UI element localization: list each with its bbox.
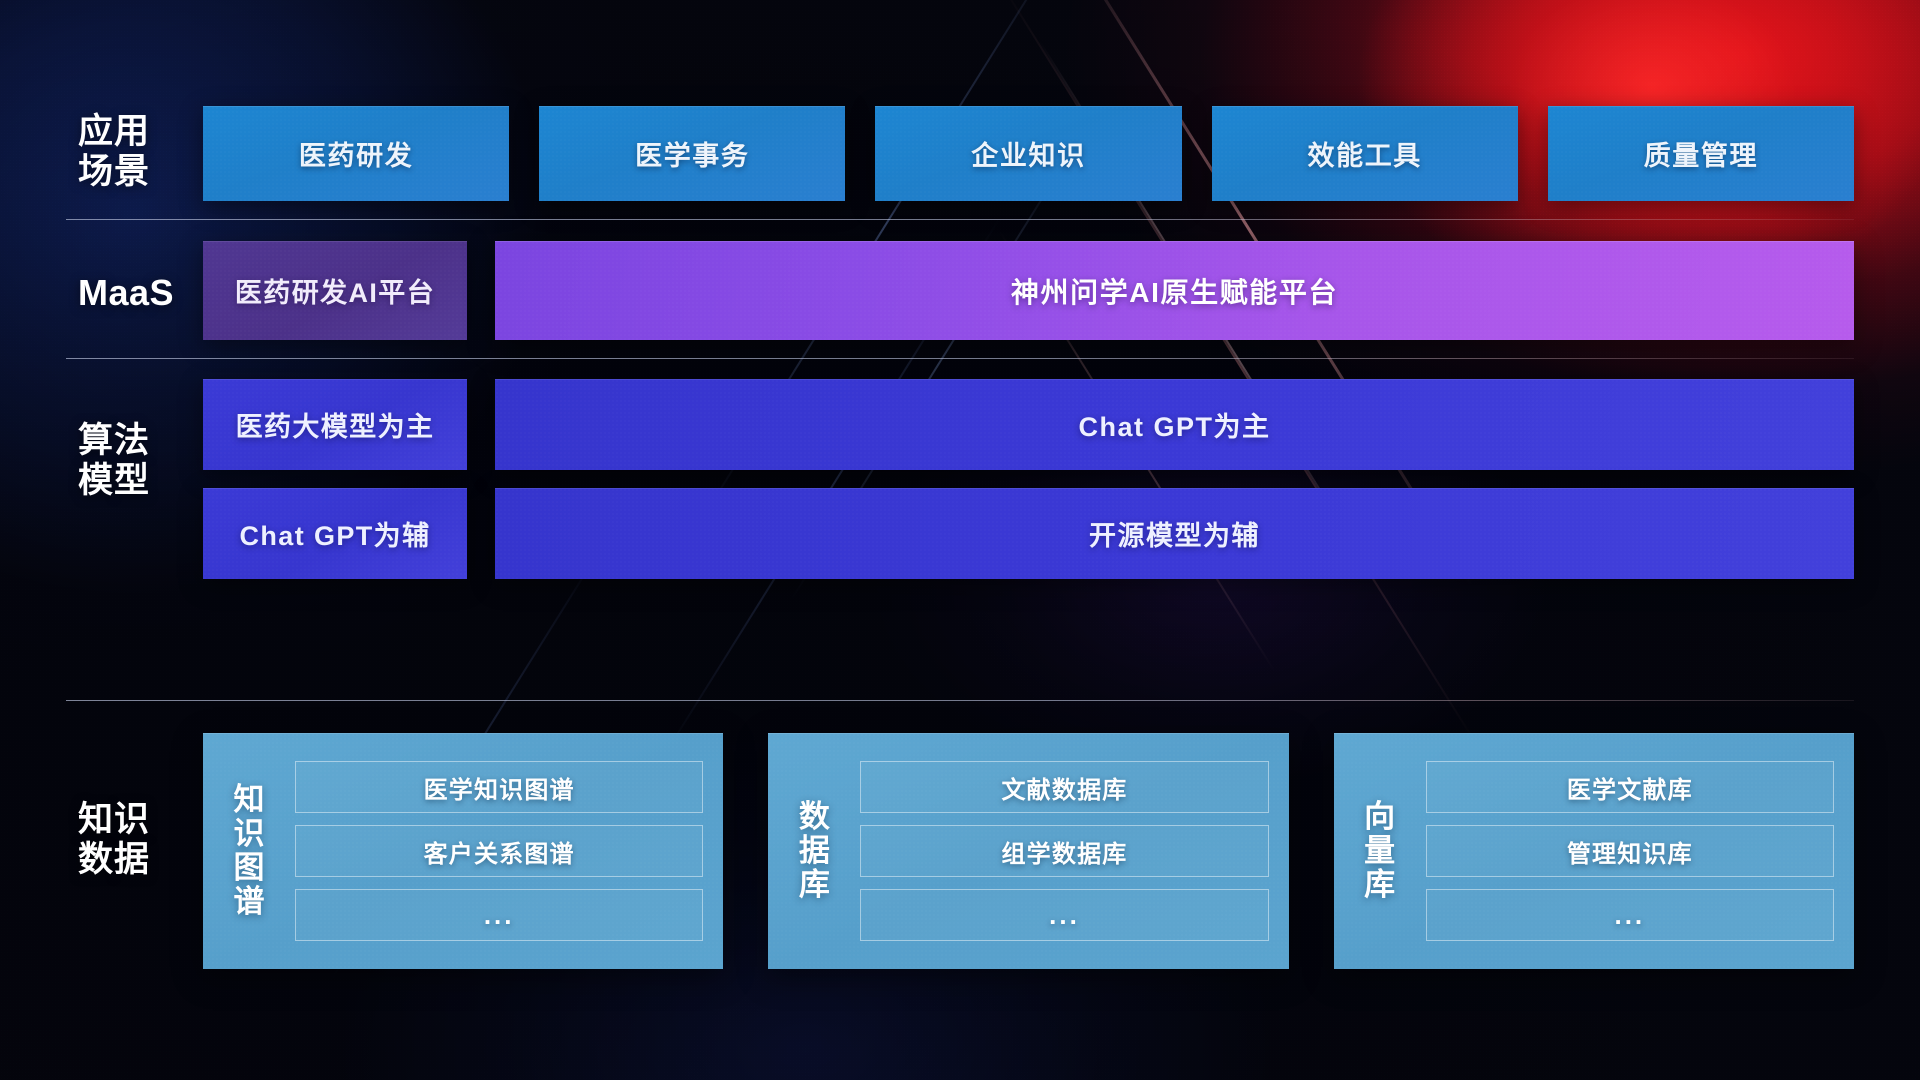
algorithm-secondary-left-label: Chat GPT为辅 — [239, 514, 430, 553]
scenario-box-3[interactable]: 效能工具 — [1212, 106, 1518, 201]
maas-platform-pharma-box[interactable]: 医药研发AI平台 — [203, 241, 467, 340]
knowledge-item-0-2[interactable]: ... — [295, 889, 703, 941]
knowledge-panel-knowledge-graph[interactable]: 知识图谱 医学知识图谱 客户关系图谱 ... — [203, 733, 723, 969]
knowledge-item-list-1: 文献数据库 组学数据库 ... — [860, 761, 1268, 941]
knowledge-panel-vertical-label-0: 知识图谱 — [223, 783, 275, 919]
scenario-box-2[interactable]: 企业知识 — [875, 106, 1181, 201]
divider-3 — [66, 700, 1854, 701]
maas-box-group: 医药研发AI平台 神州问学AI原生赋能平台 — [203, 241, 1854, 340]
algorithm-row-1: Chat GPT为辅 开源模型为辅 — [203, 488, 1854, 579]
knowledge-item-list-2: 医学文献库 管理知识库 ... — [1426, 761, 1834, 941]
maas-platform-shenzhou-label: 神州问学AI原生赋能平台 — [1011, 271, 1338, 311]
divider-1 — [66, 219, 1854, 220]
knowledge-item-1-2[interactable]: ... — [860, 889, 1268, 941]
knowledge-item-2-0[interactable]: 医学文献库 — [1426, 761, 1834, 813]
row-label-line1: 算法 — [78, 421, 208, 461]
scenario-label-1: 医学事务 — [635, 134, 749, 173]
row-label-line1: 应用 — [78, 112, 208, 152]
row-label-maas: MaaS — [78, 272, 208, 313]
knowledge-item-0-1[interactable]: 客户关系图谱 — [295, 825, 703, 877]
algorithm-box-group: 医药大模型为主 Chat GPT为主 Chat GPT为辅 开源模型为辅 — [203, 379, 1854, 579]
algorithm-row-0: 医药大模型为主 Chat GPT为主 — [203, 379, 1854, 470]
knowledge-panel-vertical-label-1: 数据库 — [788, 800, 840, 902]
knowledge-item-1-1[interactable]: 组学数据库 — [860, 825, 1268, 877]
knowledge-item-2-1[interactable]: 管理知识库 — [1426, 825, 1834, 877]
algorithm-secondary-right-box[interactable]: 开源模型为辅 — [495, 488, 1854, 579]
scenario-label-0: 医药研发 — [299, 134, 413, 173]
knowledge-panel-database[interactable]: 数据库 文献数据库 组学数据库 ... — [768, 733, 1288, 969]
row-label-knowledge-data: 知识 数据 — [78, 800, 208, 880]
scenario-box-1[interactable]: 医学事务 — [539, 106, 845, 201]
algorithm-primary-left-label: 医药大模型为主 — [236, 405, 435, 444]
maas-platform-pharma-label: 医药研发AI平台 — [235, 271, 435, 310]
scenario-label-4: 质量管理 — [1644, 134, 1758, 173]
maas-platform-shenzhou-box[interactable]: 神州问学AI原生赋能平台 — [495, 241, 1854, 340]
knowledge-panel-vector-store[interactable]: 向量库 医学文献库 管理知识库 ... — [1334, 733, 1854, 969]
algorithm-primary-right-box[interactable]: Chat GPT为主 — [495, 379, 1854, 470]
row-label-line2: 场景 — [78, 152, 208, 192]
scenario-box-group: 医药研发 医学事务 企业知识 效能工具 质量管理 — [203, 106, 1854, 201]
algorithm-primary-right-label: Chat GPT为主 — [1078, 405, 1270, 444]
scenario-label-3: 效能工具 — [1308, 134, 1422, 173]
algorithm-primary-left-box[interactable]: 医药大模型为主 — [203, 379, 467, 470]
divider-2 — [66, 358, 1854, 359]
row-label-line2: 模型 — [78, 461, 208, 501]
architecture-diagram: 应用 场景 医药研发 医学事务 企业知识 效能工具 质量管理 MaaS 医药研发… — [0, 0, 1920, 1080]
knowledge-item-list-0: 医学知识图谱 客户关系图谱 ... — [295, 761, 703, 941]
algorithm-secondary-left-box[interactable]: Chat GPT为辅 — [203, 488, 467, 579]
row-label-line2: 数据 — [78, 840, 208, 880]
knowledge-item-2-2[interactable]: ... — [1426, 889, 1834, 941]
knowledge-item-0-0[interactable]: 医学知识图谱 — [295, 761, 703, 813]
row-label-line1: 知识 — [78, 800, 208, 840]
scenario-label-2: 企业知识 — [971, 134, 1085, 173]
row-label-application-scenario: 应用 场景 — [78, 112, 208, 192]
algorithm-secondary-right-label: 开源模型为辅 — [1089, 514, 1260, 553]
knowledge-item-1-0[interactable]: 文献数据库 — [860, 761, 1268, 813]
scenario-box-0[interactable]: 医药研发 — [203, 106, 509, 201]
row-label-algorithm-model: 算法 模型 — [78, 421, 208, 501]
knowledge-panel-vertical-label-2: 向量库 — [1354, 800, 1406, 902]
scenario-box-4[interactable]: 质量管理 — [1548, 106, 1854, 201]
knowledge-panel-group: 知识图谱 医学知识图谱 客户关系图谱 ... 数据库 文献数据库 组学数据库 .… — [203, 733, 1854, 969]
